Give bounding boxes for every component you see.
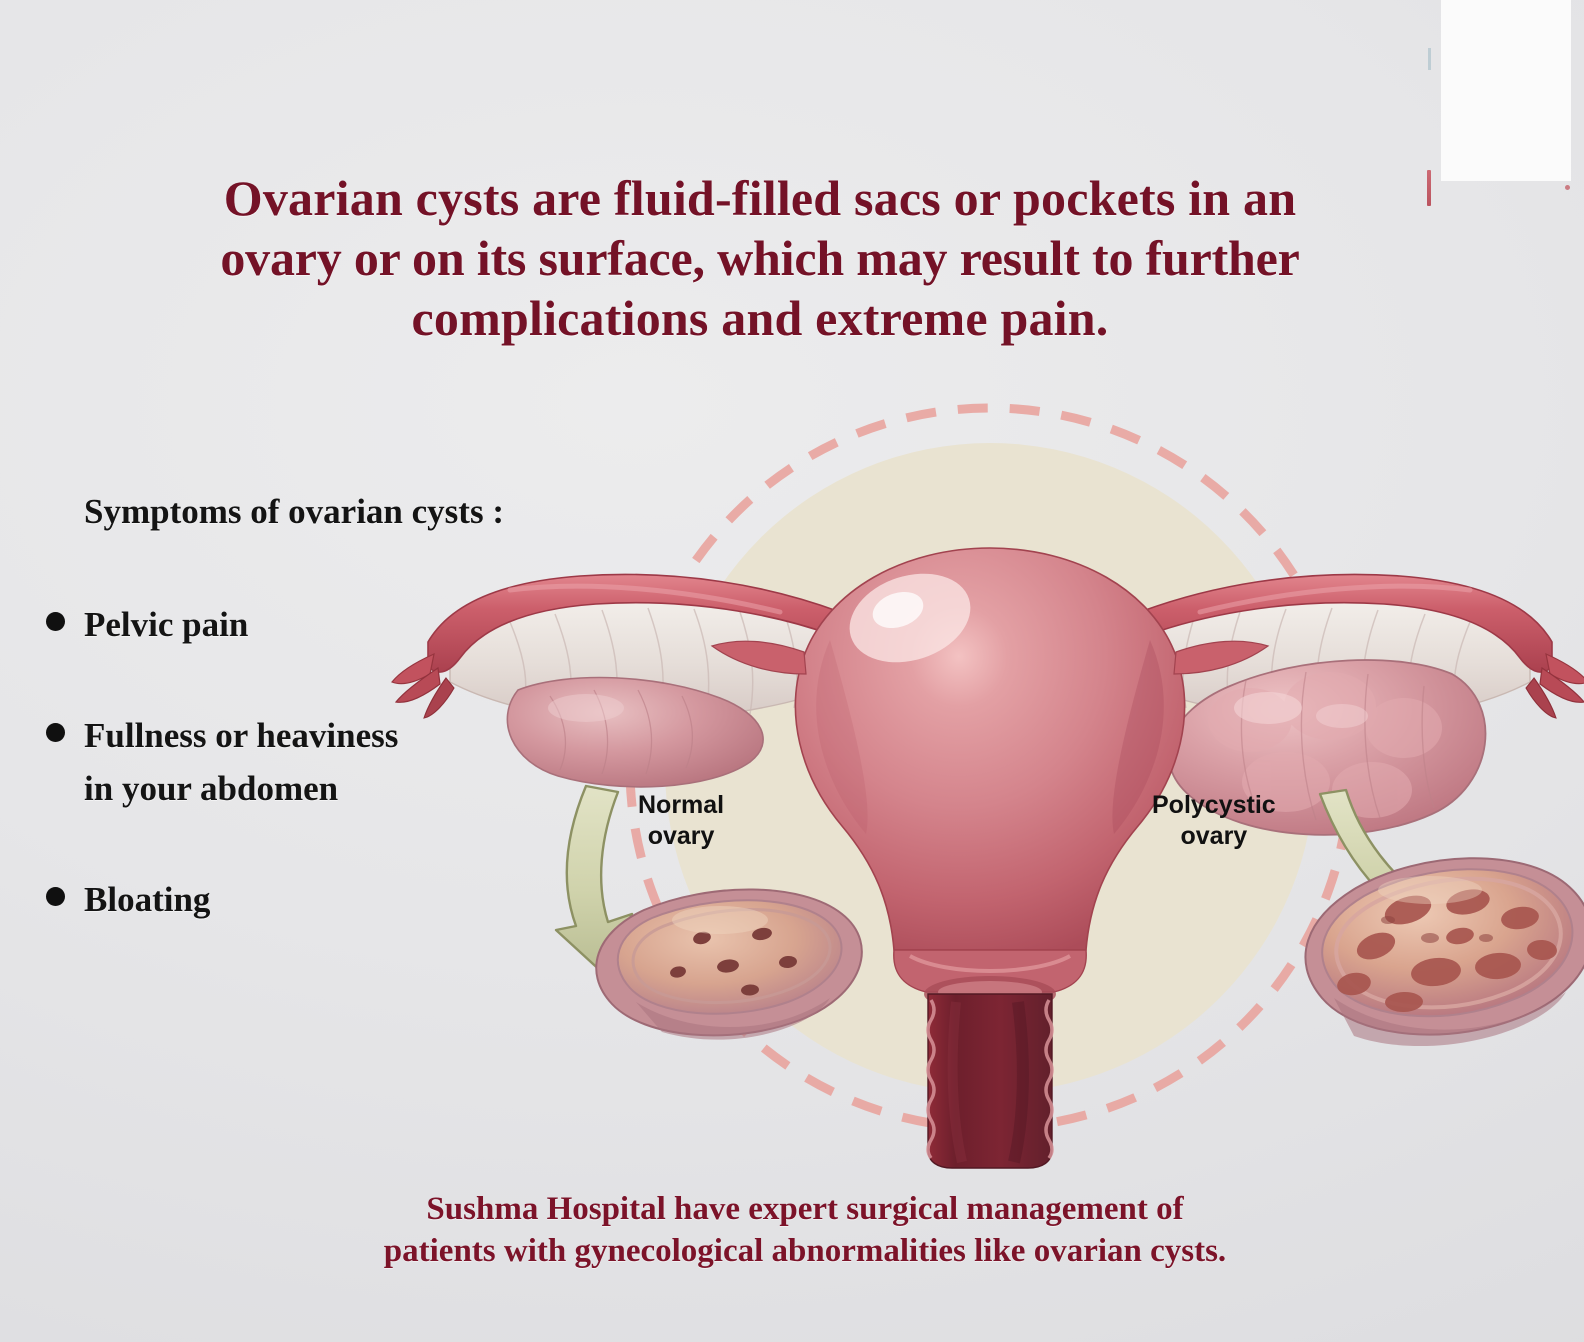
footer-line-2: patients with gynecological abnormalitie…: [120, 1230, 1490, 1272]
corner-overlay-patch: [1441, 0, 1571, 181]
list-item: Pelvic pain: [46, 598, 576, 651]
headline-line-1: Ovarian cysts are fluid-filled sacs or p…: [90, 168, 1430, 228]
polycystic-ovary-cross-section: [1305, 858, 1584, 1046]
corner-red-dot: [1565, 185, 1570, 190]
symptom-label: Pelvic pain: [84, 598, 248, 651]
bullet-icon: [46, 612, 65, 631]
bullet-icon: [46, 723, 65, 742]
corner-blue-tick: [1428, 48, 1431, 70]
symptom-label: Fullness or heavinessin your abdomen: [84, 709, 398, 815]
label-normal-line-2: ovary: [648, 822, 715, 850]
list-item: Bloating: [46, 873, 576, 926]
label-polycystic-ovary: Polycystic ovary: [1152, 790, 1276, 852]
symptom-label-line-2: in your abdomen: [84, 769, 338, 808]
headline-line-2: ovary or on its surface, which may resul…: [90, 228, 1430, 288]
symptoms-section: Symptoms of ovarian cysts : Pelvic pain …: [46, 492, 576, 984]
label-normal-ovary: Normal ovary: [638, 790, 724, 852]
bullet-icon: [46, 887, 65, 906]
infographic-slide: Ovarian cysts are fluid-filled sacs or p…: [0, 0, 1584, 1342]
symptoms-title: Symptoms of ovarian cysts :: [84, 492, 576, 532]
symptom-label: Bloating: [84, 873, 210, 926]
label-poly-line-2: ovary: [1180, 822, 1247, 850]
footer-message: Sushma Hospital have expert surgical man…: [120, 1188, 1490, 1272]
headline-line-3: complications and extreme pain.: [90, 288, 1430, 348]
label-normal-line-1: Normal: [638, 791, 724, 819]
label-poly-line-1: Polycystic: [1152, 791, 1276, 819]
footer-line-1: Sushma Hospital have expert surgical man…: [120, 1188, 1490, 1230]
page-title: Ovarian cysts are fluid-filled sacs or p…: [90, 168, 1430, 348]
symptom-label-line-1: Fullness or heaviness: [84, 716, 398, 755]
list-item: Fullness or heavinessin your abdomen: [46, 709, 576, 815]
corner-red-mark: [1427, 170, 1431, 206]
